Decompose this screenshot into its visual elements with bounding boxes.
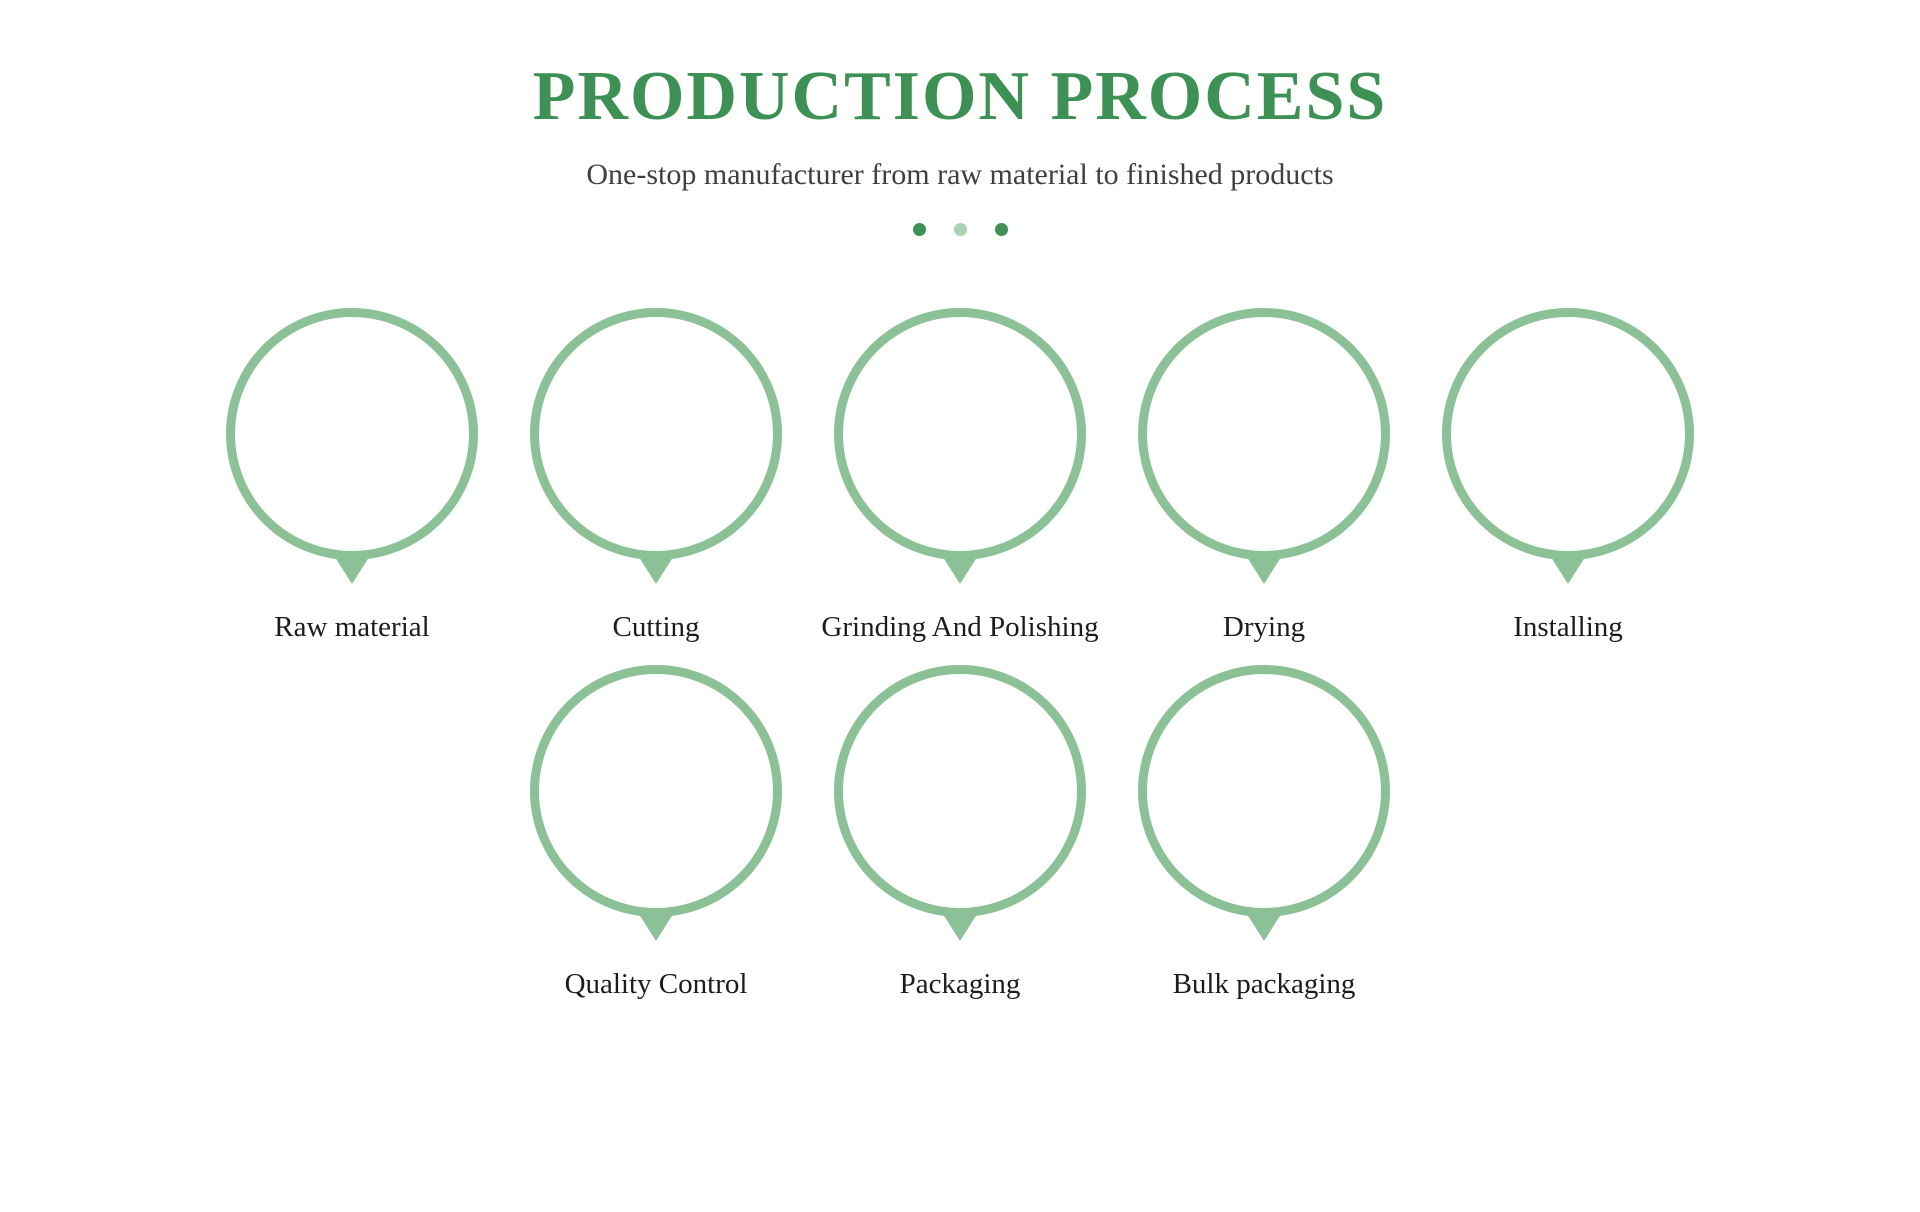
divider-dot-2 [954, 223, 967, 236]
process-step-cutting[interactable]: Cutting [522, 308, 790, 644]
process-row-bottom: Quality Control [0, 665, 1920, 1001]
packaging-pointer-icon [941, 911, 979, 941]
drying-ring [1138, 308, 1390, 560]
process-step-bulk-packaging[interactable]: Bulk packaging [1130, 665, 1398, 1001]
bulk-packaging-ring [1138, 665, 1390, 917]
process-step-raw-material[interactable]: Raw material [218, 308, 486, 644]
production-process-infographic: PRODUCTION PROCESS One-stop manufacturer… [0, 0, 1920, 1212]
grinding-and-polishing-ring [834, 308, 1086, 560]
quality-control-label: Quality Control [565, 969, 748, 1001]
installing-pointer-icon [1549, 554, 1587, 584]
drying-pointer-icon [1245, 554, 1283, 584]
process-step-drying[interactable]: Drying [1130, 308, 1398, 644]
installing-label: Installing [1513, 612, 1623, 644]
process-step-installing[interactable]: Installing [1434, 308, 1702, 644]
page-subtitle: One-stop manufacturer from raw material … [0, 157, 1920, 193]
cutting-circle [530, 308, 782, 560]
drying-label: Drying [1223, 612, 1305, 644]
grinding-and-polishing-label: Grinding And Polishing [821, 612, 1098, 644]
quality-control-pointer-icon [637, 911, 675, 941]
installing-circle [1442, 308, 1694, 560]
cutting-ring [530, 308, 782, 560]
grinding-and-polishing-circle [834, 308, 1086, 560]
cutting-label: Cutting [612, 612, 699, 644]
process-step-packaging[interactable]: Packaging [826, 665, 1094, 1001]
quality-control-ring [530, 665, 782, 917]
dot-divider [0, 223, 1920, 236]
drying-circle [1138, 308, 1390, 560]
bulk-packaging-circle [1138, 665, 1390, 917]
packaging-label: Packaging [900, 969, 1021, 1001]
raw-material-pointer-icon [333, 554, 371, 584]
divider-dot-1 [913, 223, 926, 236]
raw-material-label: Raw material [274, 612, 429, 644]
packaging-ring [834, 665, 1086, 917]
grinding-and-polishing-pointer-icon [941, 554, 979, 584]
raw-material-ring [226, 308, 478, 560]
page-title: PRODUCTION PROCESS [0, 58, 1920, 135]
cutting-pointer-icon [637, 554, 675, 584]
installing-ring [1442, 308, 1694, 560]
header: PRODUCTION PROCESS One-stop manufacturer… [0, 0, 1920, 236]
raw-material-circle [226, 308, 478, 560]
packaging-circle [834, 665, 1086, 917]
quality-control-circle [530, 665, 782, 917]
process-row-top: Raw material [0, 308, 1920, 644]
process-step-grinding-and-polishing[interactable]: Grinding And Polishing [826, 308, 1094, 644]
divider-dot-3 [995, 223, 1008, 236]
process-step-quality-control[interactable]: Quality Control [522, 665, 790, 1001]
bulk-packaging-label: Bulk packaging [1173, 969, 1356, 1001]
bulk-packaging-pointer-icon [1245, 911, 1283, 941]
